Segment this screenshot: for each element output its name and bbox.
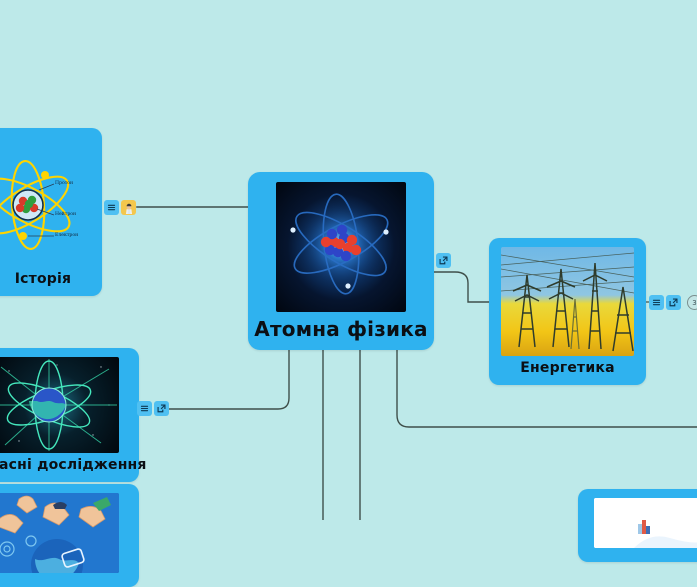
edge-central-modern: [168, 345, 289, 409]
notes-icon[interactable]: [137, 401, 152, 416]
central-atom-image: [276, 182, 406, 312]
glowing-atom-globe-graphic: [0, 357, 119, 453]
notes-icon[interactable]: [104, 200, 119, 215]
innovation-hands-globe-image: [0, 493, 119, 573]
central-node-badges[interactable]: [436, 253, 451, 268]
modern-research-image: [0, 357, 119, 453]
bottom-right-document-image: [594, 498, 697, 548]
node-central-atomic-physics[interactable]: Атомна фізика: [248, 172, 434, 350]
node-history[interactable]: Протон Нейтрон Електрон Історія: [0, 128, 102, 296]
scientist-emoji-icon[interactable]: [121, 200, 136, 215]
hands-globe-graphic: [0, 493, 119, 573]
history-node-label: Історія: [15, 272, 71, 287]
modern-research-node-label: Сучасні дослідження: [0, 458, 147, 473]
external-link-icon[interactable]: [666, 295, 681, 310]
energy-node-label: Енергетика: [520, 361, 614, 376]
notes-icon[interactable]: [649, 295, 664, 310]
external-link-icon[interactable]: [154, 401, 169, 416]
diagram-label-proton: Протон: [55, 181, 73, 186]
node-modern-research[interactable]: Сучасні дослідження: [0, 348, 139, 482]
node-bottom-right[interactable]: [578, 489, 697, 562]
node-energy[interactable]: Енергетика: [489, 238, 646, 385]
atom-diagram-graphic: [0, 137, 94, 267]
history-node-badges[interactable]: [104, 200, 136, 215]
central-node-label: Атомна фізика: [254, 318, 427, 340]
atom-graphic: [276, 182, 406, 312]
diagram-label-electron: Електрон: [55, 233, 78, 238]
modern-research-node-badges[interactable]: [137, 401, 169, 416]
history-atom-diagram-image: Протон Нейтрон Електрон: [0, 137, 94, 267]
energy-node-badges[interactable]: 3: [649, 295, 697, 310]
energy-collapse-count[interactable]: 3: [687, 295, 697, 310]
external-link-icon[interactable]: [436, 253, 451, 268]
node-innovation[interactable]: [0, 484, 139, 587]
diagram-label-neutron: Нейтрон: [55, 212, 76, 217]
power-lines-graphic: [501, 247, 634, 356]
mindmap-canvas[interactable]: Атомна фізика: [0, 0, 697, 520]
energy-power-lines-image: [501, 247, 634, 356]
edge-central-energy: [434, 272, 489, 302]
document-illustration-graphic: [594, 498, 697, 548]
